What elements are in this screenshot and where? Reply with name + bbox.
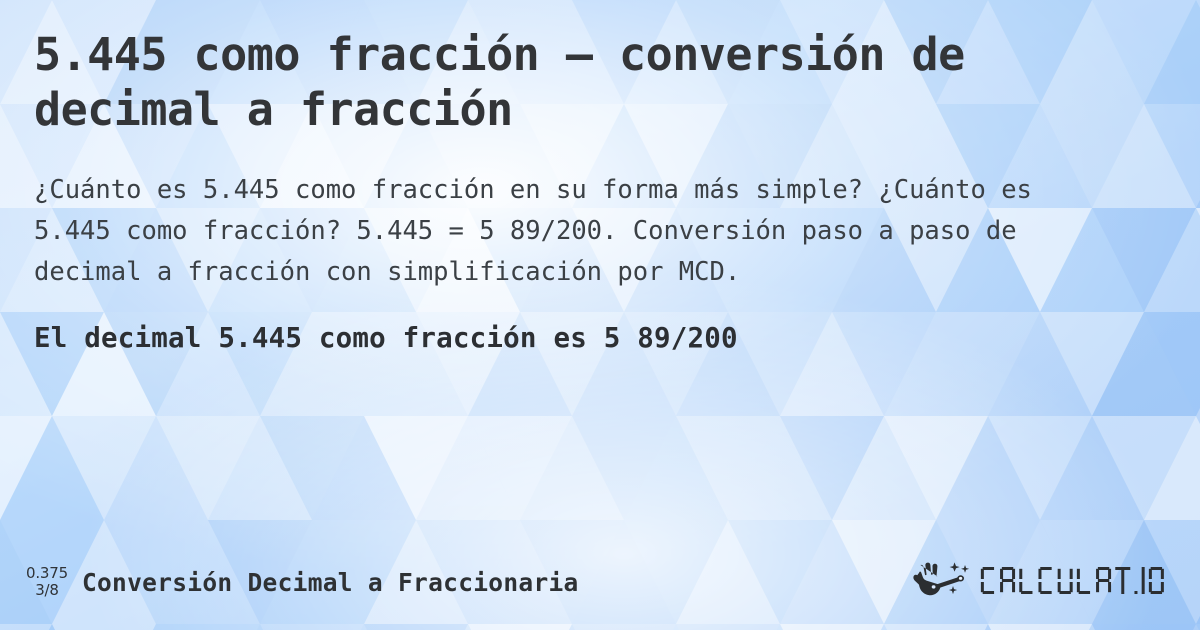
intro-description: ¿Cuánto es 5.445 como fracción en su for… — [34, 170, 1099, 294]
page-title: 5.445 como fracción – conversión de deci… — [34, 28, 1114, 138]
fraction-numerator-example: 0.375 — [26, 565, 68, 582]
fraction-example-icon: 0.375 3/8 — [26, 565, 68, 599]
hand-magic-wand-icon — [913, 560, 975, 604]
footer-bar: 0.375 3/8 Conversión Decimal a Fracciona… — [0, 534, 1200, 630]
og-image-card: 5.445 como fracción – conversión de deci… — [0, 0, 1200, 630]
calculatio-logo[interactable] — [913, 560, 1170, 604]
fraction-denominator-example: 3/8 — [35, 582, 59, 599]
footer-title: Conversión Decimal a Fraccionaria — [82, 568, 579, 597]
answer-statement: El decimal 5.445 como fracción es 5 89/2… — [34, 321, 1166, 357]
calculatio-wordmark — [979, 562, 1170, 602]
footer-brand-left: 0.375 3/8 Conversión Decimal a Fracciona… — [26, 565, 579, 599]
